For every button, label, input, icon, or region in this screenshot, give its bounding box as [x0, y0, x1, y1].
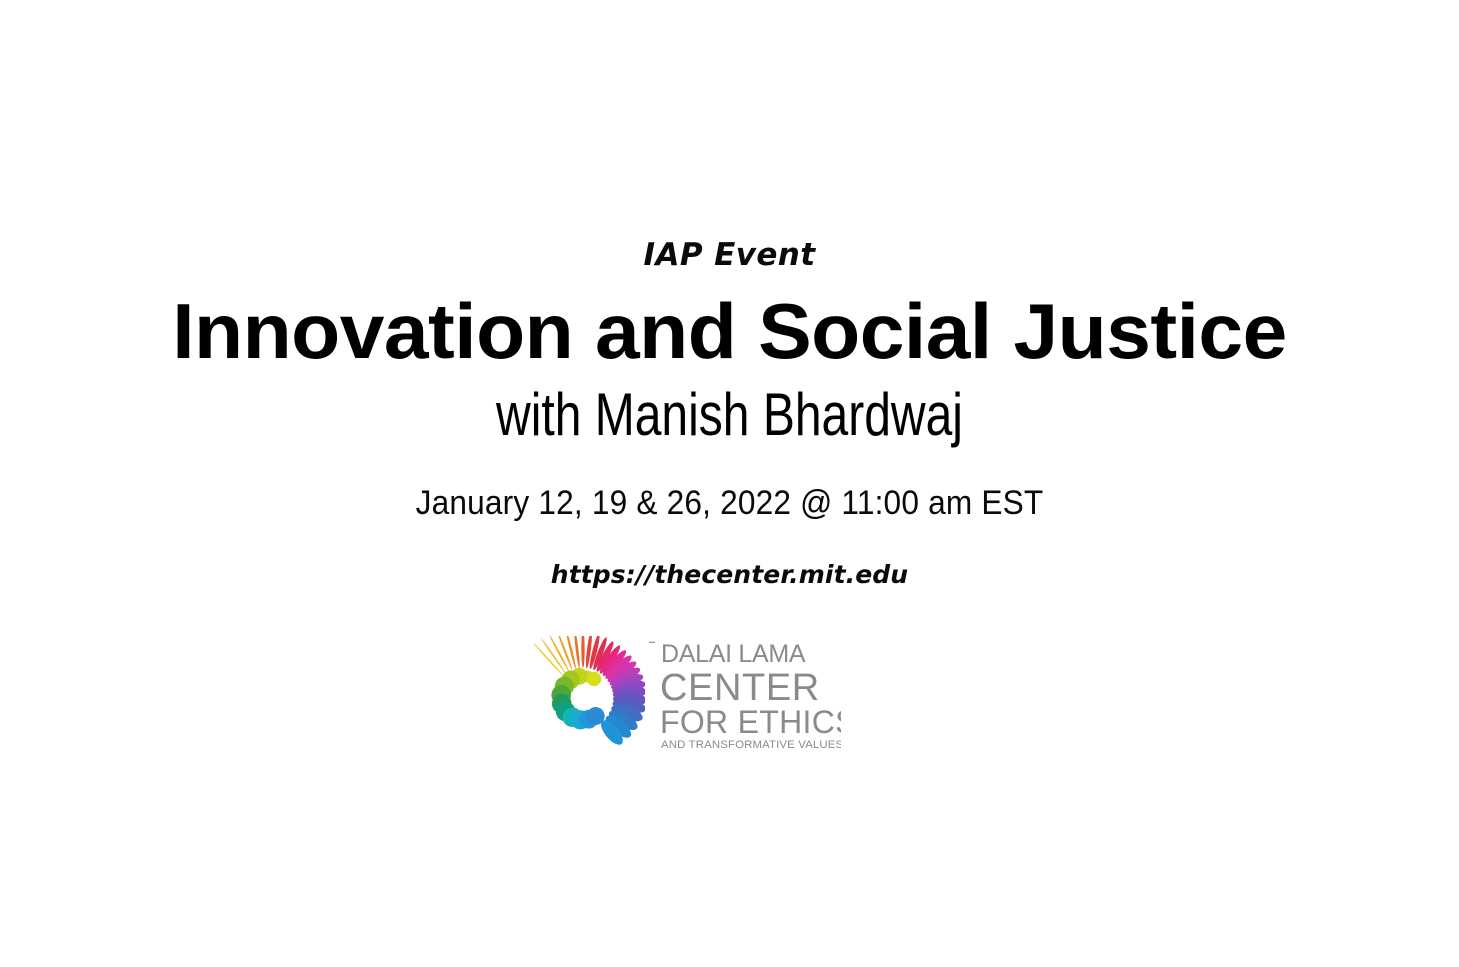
poster-canvas: IAP Event Innovation and Social Justice … [0, 0, 1459, 967]
event-eyebrow: IAP Event [0, 240, 1459, 271]
event-url-link[interactable]: https://thecenter.mit.edu [551, 560, 908, 589]
event-url[interactable]: https://thecenter.mit.edu [0, 562, 1459, 587]
dalai-lama-center-logo: THE DALAI LAMA CENTER FOR ETHICS AND TRA… [521, 636, 841, 760]
logo-dots-group [551, 668, 604, 730]
logo-text-tagline: AND TRANSFORMATIVE VALUES [661, 739, 841, 751]
logo-text-dalai-lama: DALAI LAMA [661, 640, 806, 668]
dalai-lama-center-logo-mark-icon [521, 636, 645, 760]
logo-text-center: CENTER [660, 667, 820, 709]
page-title: Innovation and Social Justice [0, 292, 1459, 370]
event-datetime: January 12, 19 & 26, 2022 @ 11:00 am EST [51, 486, 1408, 520]
event-subtitle-speaker: with Manish Bhardwaj [146, 385, 1313, 445]
logo-dot-11 [587, 707, 605, 725]
logo-dot-1 [587, 672, 601, 686]
logo-ray-6 [581, 636, 584, 668]
logo-text-for-ethics: FOR ETHICS [660, 704, 841, 740]
logo-text-the: THE [649, 640, 658, 646]
dalai-lama-center-logo-wordmark: THE DALAI LAMA CENTER FOR ETHICS AND TRA… [649, 640, 841, 756]
logo-rays-group [533, 636, 645, 748]
